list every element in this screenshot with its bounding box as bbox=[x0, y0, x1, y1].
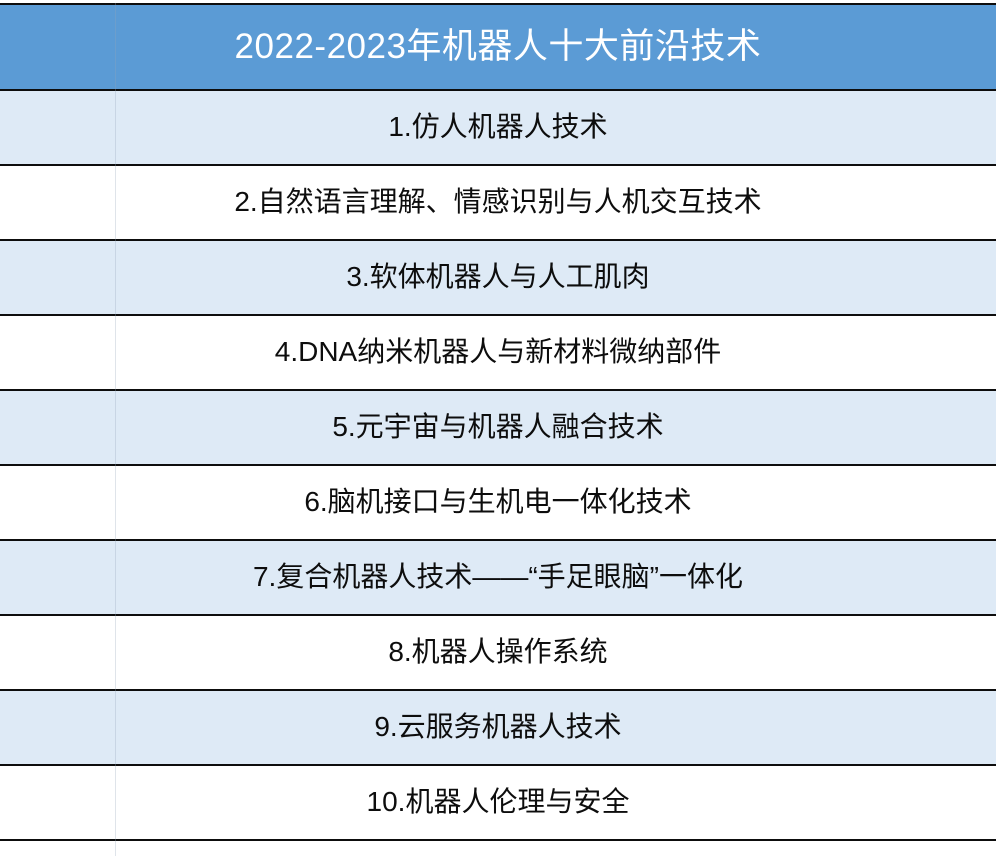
table-body: 1.仿人机器人技术 2.自然语言理解、情感识别与人机交互技术 3.软体机器人与人… bbox=[0, 90, 996, 840]
table-row: 10.机器人伦理与安全 bbox=[0, 765, 996, 840]
table-cell-item-5: 5.元宇宙与机器人融合技术 bbox=[0, 390, 996, 465]
table-document: 2022-2023年机器人十大前沿技术 1.仿人机器人技术 2.自然语言理解、情… bbox=[0, 0, 1000, 860]
table-row: 9.云服务机器人技术 bbox=[0, 690, 996, 765]
table-row: 1.仿人机器人技术 bbox=[0, 90, 996, 165]
table-cell-item-1: 1.仿人机器人技术 bbox=[0, 90, 996, 165]
table-row: 4.DNA纳米机器人与新材料微纳部件 bbox=[0, 315, 996, 390]
table-title-cell: 2022-2023年机器人十大前沿技术 bbox=[0, 4, 996, 90]
table-cell-item-10: 10.机器人伦理与安全 bbox=[0, 765, 996, 840]
table-row: 8.机器人操作系统 bbox=[0, 615, 996, 690]
table-header-row: 2022-2023年机器人十大前沿技术 bbox=[0, 4, 996, 90]
table-cell-item-7: 7.复合机器人技术——“手足眼脑”一体化 bbox=[0, 540, 996, 615]
table-cell-item-2: 2.自然语言理解、情感识别与人机交互技术 bbox=[0, 165, 996, 240]
top-technologies-table: 2022-2023年机器人十大前沿技术 1.仿人机器人技术 2.自然语言理解、情… bbox=[0, 3, 996, 841]
table-cell-item-3: 3.软体机器人与人工肌肉 bbox=[0, 240, 996, 315]
table-row: 2.自然语言理解、情感识别与人机交互技术 bbox=[0, 165, 996, 240]
table-row: 7.复合机器人技术——“手足眼脑”一体化 bbox=[0, 540, 996, 615]
table-cell-item-9: 9.云服务机器人技术 bbox=[0, 690, 996, 765]
table-cell-item-4: 4.DNA纳米机器人与新材料微纳部件 bbox=[0, 315, 996, 390]
table-header: 2022-2023年机器人十大前沿技术 bbox=[0, 4, 996, 90]
table-cell-item-6: 6.脑机接口与生机电一体化技术 bbox=[0, 465, 996, 540]
table-row: 6.脑机接口与生机电一体化技术 bbox=[0, 465, 996, 540]
table-row: 3.软体机器人与人工肌肉 bbox=[0, 240, 996, 315]
table-cell-item-8: 8.机器人操作系统 bbox=[0, 615, 996, 690]
table-row: 5.元宇宙与机器人融合技术 bbox=[0, 390, 996, 465]
